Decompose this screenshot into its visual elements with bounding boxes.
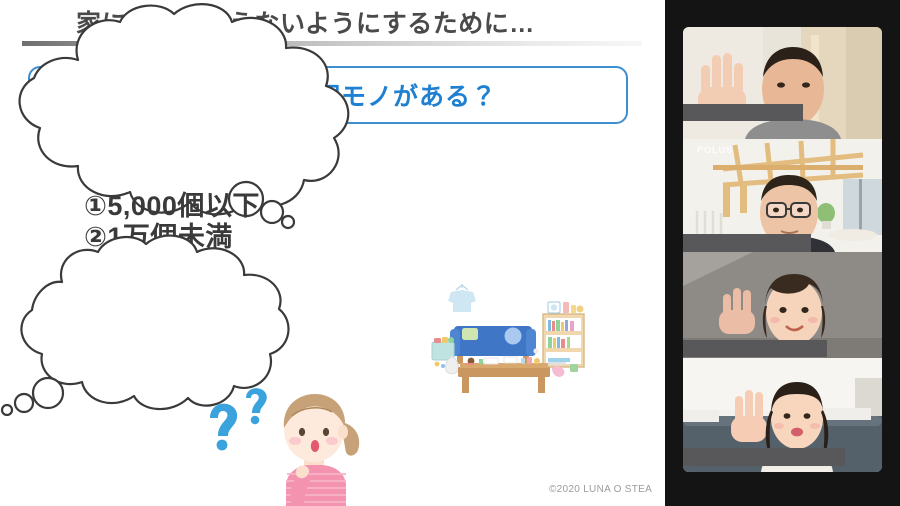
participant-name-bar-2: [683, 234, 811, 252]
screen: 家にモノが増えないようにするために… 家の中には何個モノがある？ ①5,000個…: [0, 0, 900, 506]
coffee-table-icon: [458, 357, 550, 393]
hanging-shirt-icon: [448, 284, 476, 312]
copyright-notice: ©2020 LUNA O STEA: [549, 484, 652, 495]
messy-room-illustration: [424, 282, 596, 398]
participant-tile-4[interactable]: [683, 358, 882, 472]
participant-tile-1[interactable]: [683, 27, 882, 139]
participant-name-bar-1: [683, 104, 803, 121]
participant-tile-3[interactable]: [683, 252, 882, 358]
answer-option-3: ③1万個以上: [84, 254, 260, 285]
answer-options: ①5,000個以下 ②1万個未満 ③1万個以上: [84, 191, 260, 285]
answer-option-1: ①5,000個以下: [84, 191, 260, 222]
video-conference-panel: POLUS: [665, 0, 900, 506]
bookshelf-icon: [543, 302, 584, 367]
question-mark-large-icon: [210, 404, 237, 451]
title-divider: [22, 41, 642, 46]
participant-tile-2[interactable]: POLUS: [683, 139, 882, 252]
presentation-slide: 家にモノが増えないようにするために… 家の中には何個モノがある？ ①5,000個…: [0, 0, 665, 506]
participant-name-bar-3: [683, 340, 827, 357]
slide-title: 家にモノが増えないようにするために…: [76, 4, 535, 40]
question-box: 家の中には何個モノがある？: [28, 66, 628, 124]
thinking-woman-illustration: [262, 382, 370, 506]
question-box-text: 家の中には何個モノがある？: [30, 77, 626, 113]
answer-option-2: ②1万個未満: [84, 222, 260, 253]
participant-name-bar-4: [683, 448, 845, 466]
polus-watermark: POLUS: [697, 145, 733, 155]
